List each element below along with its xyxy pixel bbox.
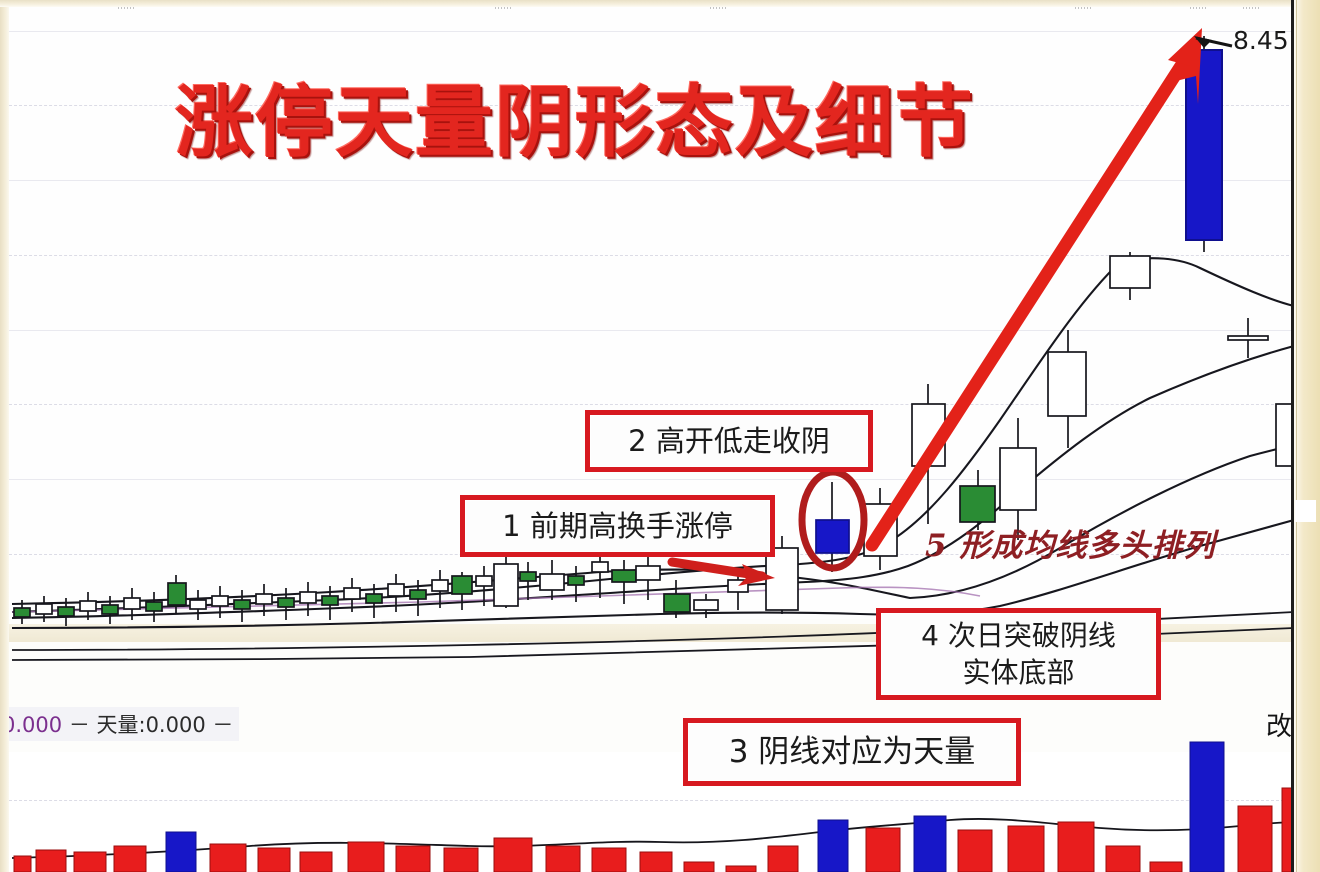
frame-right-notch [1295,500,1316,522]
price-label: 8.45 [1233,26,1289,55]
readout-separator-2: － [212,713,233,737]
chart-screenshot: 涨停天量阴形态及细节 1 前期高换手涨停 2 高开低走收阴 3 阴线对应为天量 … [0,0,1320,872]
annotation-box-4-line2: 实体底部 [962,656,1074,689]
annotation-box-3-label: 3 阴线对应为天量 [729,734,976,771]
status-readout: 0.000 － 天量:0.000 － [0,707,239,741]
frame-top-border [0,0,1320,7]
page-title: 涨停天量阴形态及细节 [175,60,1035,172]
annotation-box-3[interactable]: 3 阴线对应为天量 [683,718,1021,786]
frame-left-border [0,0,9,872]
annotation-text-5: 5 形成均线多头排列 [925,520,1215,565]
highlight-ellipse [802,472,864,568]
annotation-box-2-label: 2 高开低走收阴 [628,424,830,458]
annotation-box-1[interactable]: 1 前期高换手涨停 [460,495,775,557]
frame-right-border [1294,0,1320,872]
right-margin-char: 改 [1266,706,1292,743]
annotation-box-1-label: 1 前期高换手涨停 [502,509,733,543]
annotation-box-2[interactable]: 2 高开低走收阴 [585,410,873,472]
pointer-arrow-icon [672,562,775,586]
readout-label: 天量:0.000 [97,713,206,737]
readout-value-left: 0.000 [2,713,62,737]
frame-right-divider [1291,0,1294,872]
annotation-box-4[interactable]: 4 次日突破阴线 实体底部 [876,608,1161,700]
annotation-box-4-line1: 4 次日突破阴线 [921,619,1116,652]
frame-right-seam [1296,0,1297,872]
readout-separator-1: － [69,713,90,737]
